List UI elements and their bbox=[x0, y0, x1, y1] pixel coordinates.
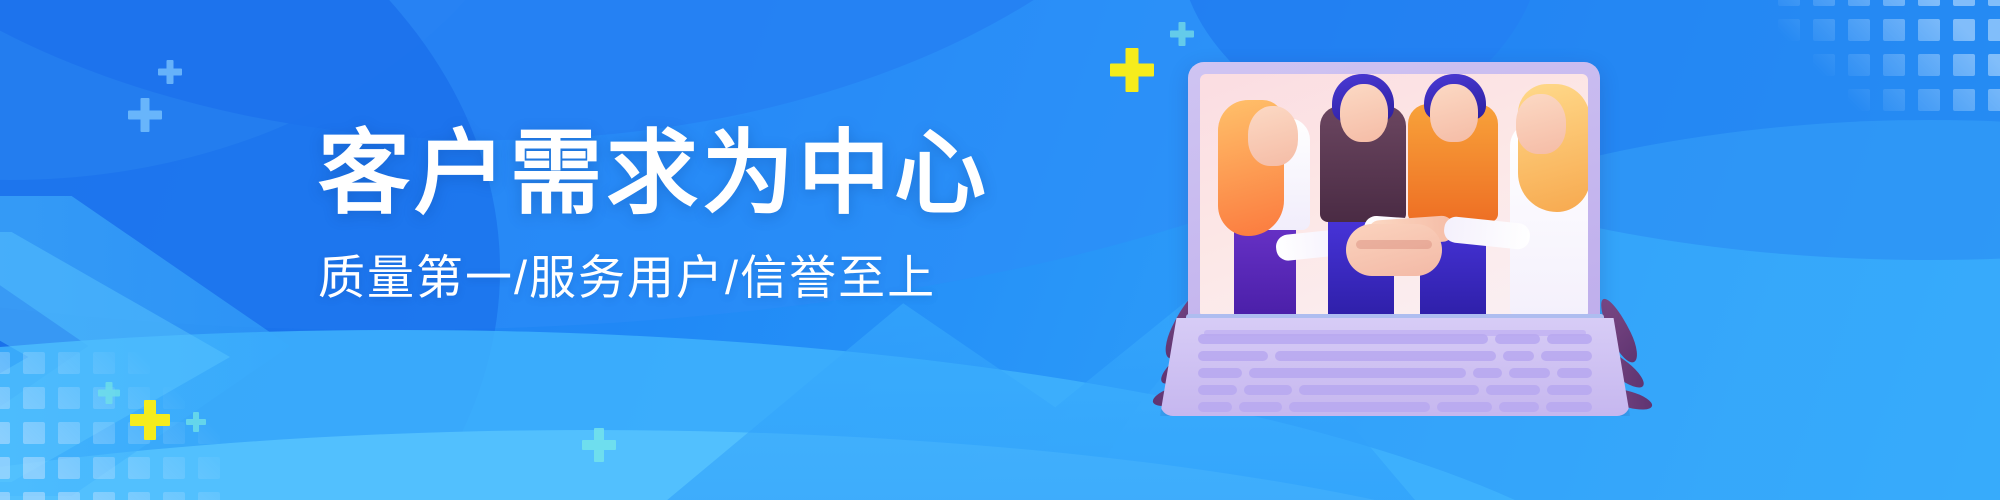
head bbox=[1248, 106, 1298, 166]
keyboard-row bbox=[1198, 351, 1592, 361]
banner-headline: 客户需求为中心 bbox=[318, 128, 1098, 220]
keyboard-row bbox=[1198, 385, 1592, 395]
laptop-lid bbox=[1188, 62, 1600, 324]
keyboard-row bbox=[1198, 368, 1592, 378]
plus-large-yellow-bottom-icon bbox=[130, 400, 170, 440]
head bbox=[1430, 84, 1478, 142]
head bbox=[1340, 84, 1388, 142]
laptop-keyboard bbox=[1198, 334, 1592, 408]
keyboard-row bbox=[1198, 402, 1592, 412]
laptop-illustration bbox=[1160, 62, 1630, 432]
person-woman-blonde-hair bbox=[1496, 74, 1588, 318]
plus-medium-cyan-center-icon bbox=[582, 428, 616, 462]
plus-large-yellow-top-icon bbox=[1110, 48, 1154, 92]
promo-banner: 客户需求为中心 质量第一/服务用户/信誉至上 bbox=[0, 0, 2000, 500]
banner-subline: 质量第一/服务用户/信誉至上 bbox=[318, 254, 1098, 301]
head bbox=[1516, 94, 1566, 154]
joined-hands bbox=[1346, 224, 1442, 276]
plus-medium-top-left-icon bbox=[128, 98, 162, 132]
banner-copy: 客户需求为中心 质量第一/服务用户/信誉至上 bbox=[318, 128, 1098, 301]
plus-small-cyan-top-icon bbox=[1170, 22, 1194, 46]
plus-small-cyan-bottom-b-icon bbox=[186, 412, 206, 432]
plus-small-top-left-icon bbox=[158, 60, 182, 84]
person-man-orange-blazer bbox=[1400, 74, 1510, 318]
square-grid-top-right bbox=[1778, 0, 2000, 111]
laptop-screen bbox=[1200, 74, 1588, 318]
plus-small-cyan-bottom-a-icon bbox=[98, 382, 120, 404]
keyboard-row bbox=[1198, 334, 1592, 344]
person-woman-orange-hair bbox=[1214, 82, 1322, 318]
